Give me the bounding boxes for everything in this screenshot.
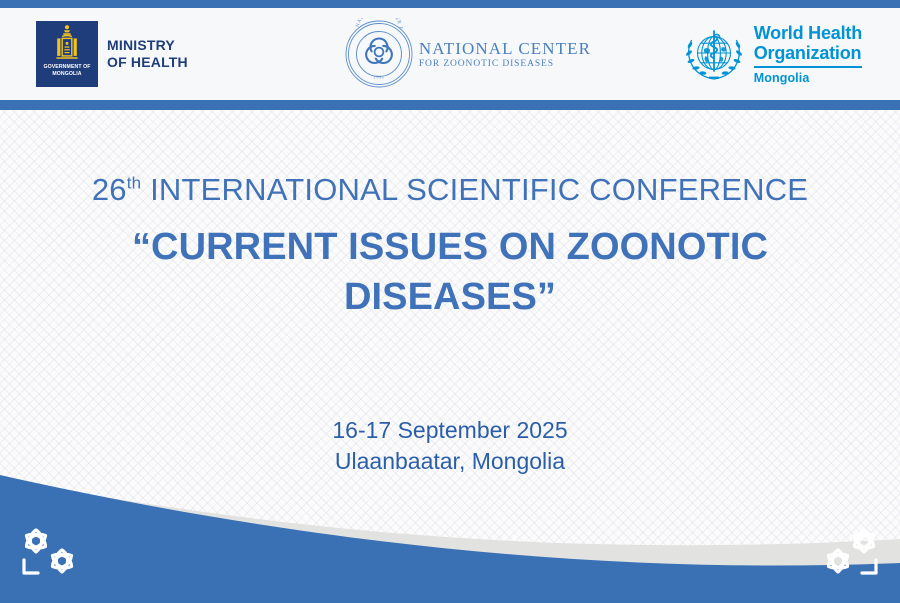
who-name-line1: World Health (754, 23, 862, 43)
conference-title-slide: GOVERNMENT OF MONGOLIA MINISTRY OF HEALT… (0, 0, 900, 603)
who-label: World Health Organization Mongolia (754, 23, 862, 85)
conference-number: 26 (92, 172, 127, 207)
svg-text:1931: 1931 (373, 75, 384, 80)
zoonotic-trefoil-seal-icon: NATIONAL CENTER FOR ZOONOTIC DISEASES 19… (343, 18, 415, 90)
conference-theme: “CURRENT ISSUES ON ZOONOTIC DISEASES” (0, 222, 900, 322)
who-underline (754, 66, 862, 68)
event-date: 16-17 September 2025 (0, 415, 900, 446)
conference-rest: INTERNATIONAL SCIENTIFIC CONFERENCE (141, 172, 808, 207)
who-logo: World Health Organization Mongolia (681, 23, 862, 85)
crest-caption-line2: MONGOLIA (52, 71, 81, 77)
ministry-label-line1: MINISTRY (107, 37, 188, 54)
crest-caption: GOVERNMENT OF MONGOLIA (43, 64, 90, 78)
soyombo-emblem-icon (54, 24, 80, 62)
wave-divider-icon (0, 443, 900, 603)
mongolia-government-crest: GOVERNMENT OF MONGOLIA (36, 21, 98, 87)
top-accent-bar (0, 0, 900, 8)
national-center-line1: NATIONAL CENTER (419, 39, 591, 58)
mongolian-triquetra-knot-icon (16, 523, 86, 581)
national-center-logo: NATIONAL CENTER FOR ZOONOTIC DISEASES 19… (343, 18, 591, 90)
ministry-label-line2: OF HEALTH (107, 54, 188, 71)
mongolian-triquetra-knot-icon (814, 523, 884, 581)
logo-row: GOVERNMENT OF MONGOLIA MINISTRY OF HEALT… (0, 8, 900, 100)
who-emblem-icon (681, 23, 747, 85)
title-block: 26th INTERNATIONAL SCIENTIFIC CONFERENCE… (0, 168, 900, 322)
header-accent-bar (0, 100, 900, 110)
conference-line: 26th INTERNATIONAL SCIENTIFIC CONFERENCE (0, 168, 900, 212)
crest-caption-line1: GOVERNMENT OF (43, 64, 90, 70)
conference-theme-line2: DISEASES” (0, 272, 900, 322)
national-center-label: NATIONAL CENTER FOR ZOONOTIC DISEASES (419, 39, 591, 70)
conference-ordinal-suffix: th (127, 174, 142, 193)
who-name-line2: Organization (754, 43, 862, 63)
ministry-of-health-logo: GOVERNMENT OF MONGOLIA MINISTRY OF HEALT… (36, 21, 188, 87)
who-country-label: Mongolia (754, 71, 862, 85)
ministry-label: MINISTRY OF HEALTH (107, 37, 188, 71)
conference-theme-line1: “CURRENT ISSUES ON ZOONOTIC (0, 222, 900, 272)
national-center-line2: FOR ZOONOTIC DISEASES (419, 58, 591, 70)
